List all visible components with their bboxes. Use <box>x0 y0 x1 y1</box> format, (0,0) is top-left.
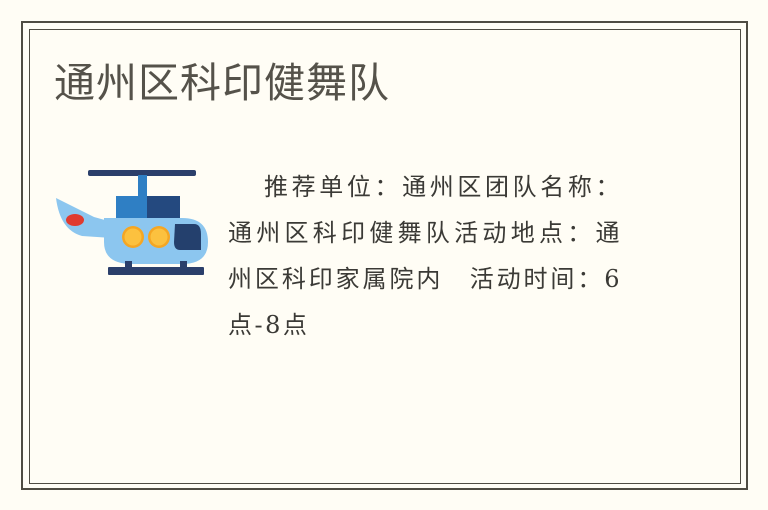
cockpit-window-icon <box>174 224 201 250</box>
porthole-inner-icon <box>125 229 142 246</box>
info-card: 通州区科印健舞队 <box>0 0 768 510</box>
page-title: 通州区科印健舞队 <box>54 57 390 109</box>
info-text-block: 推荐单位：通州区团队名称：通州区科印健舞队活动地点：通州区科印家属院内活动时间：… <box>228 164 622 348</box>
rotor-mast-icon <box>138 175 147 197</box>
porthole-inner-icon <box>151 229 168 246</box>
tail-light-icon <box>66 214 84 226</box>
engine-block-left-icon <box>116 196 147 218</box>
engine-block-right-icon <box>147 196 180 218</box>
info-line-recommending-unit: 推荐单位：通州区 <box>264 173 485 201</box>
skid-bar-icon <box>108 267 204 275</box>
helicopter-illustration <box>52 162 214 278</box>
tail-boom-icon <box>56 198 112 238</box>
